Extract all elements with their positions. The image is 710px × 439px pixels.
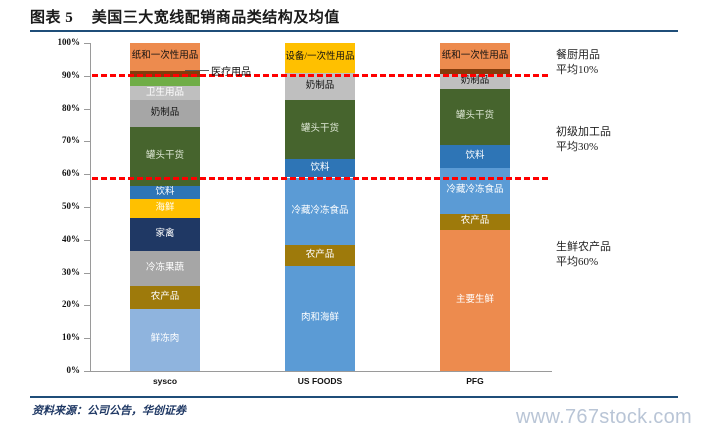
x-axis-line [90, 371, 552, 372]
annotation-title: 生鲜农产品 [556, 240, 706, 255]
y-axis-tick-label: 30% [40, 267, 80, 277]
annotation-value: 平均10% [556, 63, 706, 78]
page-title: 图表 5 美国三大宽线配销商品类结构及均值 [30, 6, 678, 32]
bar-segment[interactable] [130, 77, 200, 85]
stacked-bar[interactable]: 肉和海鲜农产品冷藏冷冻食品饮料罐头干货奶制品设备/一次性用品 [285, 43, 355, 371]
annotation: 初级加工品平均30% [556, 125, 706, 155]
bar-segment[interactable]: 冷冻果蔬 [130, 251, 200, 285]
bar-segment-label: 主要生鲜 [456, 295, 494, 306]
y-axis-tick-label: 40% [40, 234, 80, 244]
bar-segment-label: 设备/一次性用品 [285, 52, 354, 63]
annotation-value: 平均30% [556, 140, 706, 155]
y-axis-tick [84, 174, 90, 175]
bar-segment-label: 奶制品 [461, 76, 490, 87]
bar-segment[interactable]: 饮料 [130, 186, 200, 199]
bar-segment[interactable]: 罐头干货 [440, 89, 510, 145]
y-axis-tick [84, 43, 90, 44]
y-axis-tick [84, 305, 90, 306]
bar-segment-label: 肉和海鲜 [301, 313, 339, 324]
medical-callout-label: 医疗用品 [211, 63, 251, 78]
bar-segment[interactable]: 农产品 [285, 245, 355, 266]
y-axis-tick [84, 371, 90, 372]
bar-segment[interactable]: 鲜冻肉 [130, 309, 200, 371]
x-axis-category-label: US FOODS [260, 376, 380, 386]
bar-segment-label: 饮料 [155, 187, 174, 198]
bar-segment-label: 罐头干货 [301, 124, 339, 135]
bar-segment[interactable]: 纸和一次性用品 [440, 43, 510, 69]
bar-segment-label: 冷藏冷冻食品 [291, 206, 348, 217]
watermark: www.767stock.com [516, 406, 692, 429]
y-axis-tick [84, 141, 90, 142]
bar-segment[interactable]: 家禽 [130, 218, 200, 251]
annotation-title: 餐厨用品 [556, 48, 706, 63]
bar-segment-label: 饮料 [465, 151, 484, 162]
bar-segment-label: 家禽 [155, 229, 174, 240]
bar-segment-label: 卫生用品 [146, 88, 184, 99]
y-axis-tick-label: 70% [40, 135, 80, 145]
y-axis-tick-label: 80% [40, 103, 80, 113]
title-divider [30, 30, 678, 32]
bar-segment[interactable]: 主要生鲜 [440, 230, 510, 371]
y-axis-tick-label: 60% [40, 168, 80, 178]
bar-segment-label: 冷冻果蔬 [146, 263, 184, 274]
bar-segment[interactable]: 农产品 [130, 286, 200, 309]
bar-segment[interactable]: 奶制品 [130, 100, 200, 126]
bar-segment-label: 奶制品 [151, 108, 180, 119]
average-line [92, 177, 548, 180]
bar-segment[interactable]: 海鲜 [130, 199, 200, 219]
bar-segment[interactable]: 冷藏冷冻食品 [285, 178, 355, 245]
source-note: 资料来源：公司公告，华创证券 [32, 402, 186, 418]
bar-segment-label: 纸和一次性用品 [442, 51, 509, 62]
footer-divider [30, 396, 678, 398]
bar-segment-label: 纸和一次性用品 [132, 51, 199, 62]
annotation-title: 初级加工品 [556, 125, 706, 140]
bar-segment[interactable]: 饮料 [285, 159, 355, 177]
bar-segment-label: 海鲜 [155, 203, 174, 214]
bar-segment-label: 饮料 [310, 163, 329, 174]
annotation: 餐厨用品平均10% [556, 48, 706, 78]
bar-segment[interactable]: 饮料 [440, 145, 510, 168]
y-axis-tick-label: 100% [40, 37, 80, 47]
y-axis-tick [84, 207, 90, 208]
bar-segment-label: 农产品 [461, 216, 490, 227]
y-axis-tick-label: 10% [40, 332, 80, 342]
figure-root: 图表 5 美国三大宽线配销商品类结构及均值 0%10%20%30%40%50%6… [0, 0, 710, 439]
bar-segment-label: 罐头干货 [146, 151, 184, 162]
y-axis-tick [84, 240, 90, 241]
y-axis-tick [84, 273, 90, 274]
figure-label: 图表 5 [30, 10, 73, 26]
y-axis-tick-label: 20% [40, 299, 80, 309]
bar-segment-label: 农产品 [151, 292, 180, 303]
bar-segment[interactable]: 农产品 [440, 214, 510, 230]
y-axis-tick [84, 76, 90, 77]
y-axis-line [90, 43, 91, 372]
y-axis-tick-label: 0% [40, 365, 80, 375]
x-axis-category-label: PFG [415, 376, 535, 386]
bar-segment[interactable]: 设备/一次性用品 [285, 43, 355, 73]
figure-title: 美国三大宽线配销商品类结构及均值 [92, 10, 340, 26]
x-axis-category-label: sysco [105, 376, 225, 386]
medical-callout-leader [185, 70, 209, 71]
y-axis-tick [84, 109, 90, 110]
annotation-value: 平均60% [556, 255, 706, 270]
bar-segment-label: 鲜冻肉 [151, 334, 180, 345]
stacked-bar[interactable]: 主要生鲜农产品冷藏冷冻食品饮料罐头干货奶制品纸和一次性用品 [440, 43, 510, 371]
bar-segment[interactable]: 纸和一次性用品 [130, 43, 200, 71]
y-axis-tick-label: 50% [40, 201, 80, 211]
bar-segment[interactable]: 卫生用品 [130, 86, 200, 101]
annotation: 生鲜农产品平均60% [556, 240, 706, 270]
y-axis-tick-label: 90% [40, 70, 80, 80]
bar-segment[interactable]: 冷藏冷冻食品 [440, 168, 510, 214]
bar-segment-label: 罐头干货 [456, 111, 494, 122]
bar-segment-label: 冷藏冷冻食品 [446, 185, 503, 196]
bar-segment-label: 农产品 [306, 250, 335, 261]
stacked-bar[interactable]: 鲜冻肉农产品冷冻果蔬家禽海鲜饮料罐头干货奶制品卫生用品纸和一次性用品 [130, 43, 200, 371]
bar-segment[interactable]: 罐头干货 [285, 100, 355, 159]
bar-segment-label: 奶制品 [306, 81, 335, 92]
y-axis-tick [84, 338, 90, 339]
average-line [92, 74, 548, 77]
bar-segment[interactable]: 肉和海鲜 [285, 266, 355, 371]
